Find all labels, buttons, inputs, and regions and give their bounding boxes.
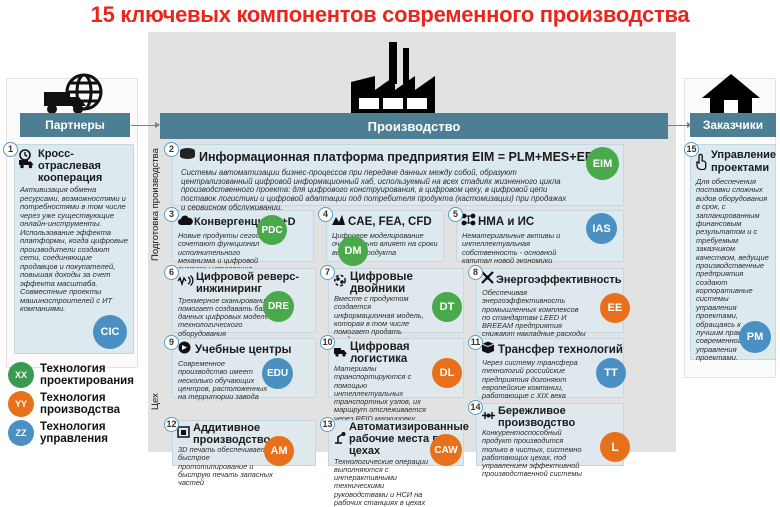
- card-3[interactable]: Конвергенция P+D Новые продукты сегодня …: [172, 210, 314, 262]
- legend-dot-zz: ZZ: [8, 420, 34, 446]
- card-9-title: Учебные центры: [195, 344, 291, 356]
- legend-label-1: Технология производства: [40, 392, 148, 417]
- card-10-badge: DL: [432, 358, 462, 388]
- card-12-badge: AM: [264, 436, 294, 466]
- card-11-badge: TT: [596, 358, 626, 388]
- card-number-9: 9: [164, 335, 179, 350]
- card-number-12: 12: [164, 417, 179, 432]
- card-2-badge: EIM: [586, 147, 619, 180]
- card-number-14: 14: [468, 400, 483, 415]
- twin-circle-icon: [333, 274, 350, 292]
- card-5-badge: IAS: [586, 213, 617, 244]
- card-12[interactable]: Аддитивное производство 3D печать обеспе…: [172, 420, 316, 466]
- printer-icon: [177, 425, 193, 443]
- legend-dot-yy: YY: [8, 391, 34, 417]
- legend-item-0: XX Технология проектирования: [8, 362, 148, 388]
- network-icon: [461, 213, 478, 231]
- package-icon: [481, 341, 498, 359]
- card-number-5: 5: [448, 207, 463, 222]
- card-14[interactable]: Бережливое производство Конкурентоспособ…: [476, 403, 624, 466]
- card-8-title: Энергоэффективность: [496, 274, 622, 286]
- card-6[interactable]: Цифровой реверс-инжиниринг Трехмерное ск…: [172, 268, 316, 333]
- card-8-badge: EE: [600, 293, 630, 323]
- card-12-title: Аддитивное производство: [193, 422, 315, 446]
- card-1-badge: CIC: [93, 315, 127, 349]
- card-number-6: 6: [164, 265, 179, 280]
- factory-icon: [345, 42, 441, 116]
- lean-icon: [481, 408, 498, 426]
- card-number-10: 10: [320, 335, 335, 350]
- card-9-badge: EDU: [262, 358, 293, 389]
- chart-icon: [331, 213, 348, 231]
- truck-box-icon: [333, 344, 350, 362]
- card-1[interactable]: Кросс-отраслевая кооперация Активизация …: [14, 144, 134, 354]
- header-customers: Заказчики: [690, 113, 776, 137]
- card-number-3: 3: [164, 207, 179, 222]
- card-11-title: Трансфер технологий: [498, 344, 623, 356]
- database-icon: [179, 147, 199, 167]
- legend-dot-xx: XX: [8, 362, 34, 388]
- card-7-badge: DT: [432, 292, 462, 322]
- card-number-15: 15: [684, 142, 699, 157]
- robot-arm-icon: [333, 431, 349, 449]
- card-5-title: НМА и ИС: [478, 216, 534, 228]
- card-9-body: Современное производство имеет несколько…: [173, 359, 315, 401]
- graduation-icon: [177, 341, 195, 359]
- card-number-7: 7: [320, 265, 335, 280]
- legend: XX Технология проектирования YY Технолог…: [8, 362, 148, 449]
- card-number-1: 1: [3, 142, 18, 157]
- header-production: Производство: [160, 113, 668, 139]
- card-4-badge: DM: [338, 236, 368, 266]
- card-4-title: CAE, FEA, CFD: [348, 216, 432, 228]
- card-6-badge: DRE: [263, 291, 294, 322]
- card-number-4: 4: [318, 207, 333, 222]
- cloud-icon: [177, 213, 194, 231]
- scanner-icon: [177, 273, 196, 291]
- arrow-partners-to-production: [131, 125, 159, 126]
- card-9[interactable]: Учебные центры Современное производство …: [172, 338, 316, 398]
- card-15[interactable]: Управление проектами Для обеспечения пос…: [690, 144, 776, 360]
- card-number-8: 8: [468, 265, 483, 280]
- band-label-shop: Цех: [150, 382, 164, 422]
- legend-item-1: YY Технология производства: [8, 391, 148, 417]
- card-number-11: 11: [468, 335, 483, 350]
- card-6-title: Цифровой реверс-инжиниринг: [196, 271, 315, 296]
- card-3-badge: PDC: [257, 215, 287, 245]
- page-title: 15 ключевых компонентов современного про…: [0, 2, 780, 28]
- truck-clock-icon: [18, 149, 38, 174]
- card-number-2: 2: [164, 142, 179, 157]
- leaf-icon: [481, 271, 496, 289]
- card-2-body: Системы автоматизации бизнес-процессов п…: [173, 167, 623, 213]
- card-14-badge: L: [600, 432, 630, 462]
- card-2[interactable]: Информационная платформа предприятия EIM…: [172, 144, 624, 206]
- card-2-title: Информационная платформа предприятия EIM…: [199, 150, 602, 164]
- legend-label-2: Технология управления: [40, 421, 148, 446]
- card-1-title: Кросс-отраслевая кооперация: [38, 148, 130, 184]
- card-14-title: Бережливое производство: [498, 405, 623, 429]
- legend-item-2: ZZ Технология управления: [8, 420, 148, 446]
- legend-label-0: Технология проектирования: [40, 363, 148, 388]
- header-partners: Партнеры: [20, 113, 130, 137]
- hand-click-icon: [694, 153, 711, 175]
- card-13-badge: CAW: [430, 434, 462, 466]
- band-label-preparation: Подготовка производства: [150, 141, 164, 269]
- card-number-13: 13: [320, 417, 335, 432]
- arrow-production-to-customers: [667, 125, 691, 126]
- card-15-title: Управление проектами: [711, 149, 776, 174]
- card-6-body: Трехмерное сканирование помогает создава…: [173, 296, 315, 338]
- card-1-body: Активизация обмена ресурсами, возможност…: [15, 184, 133, 314]
- card-15-badge: PM: [739, 321, 771, 353]
